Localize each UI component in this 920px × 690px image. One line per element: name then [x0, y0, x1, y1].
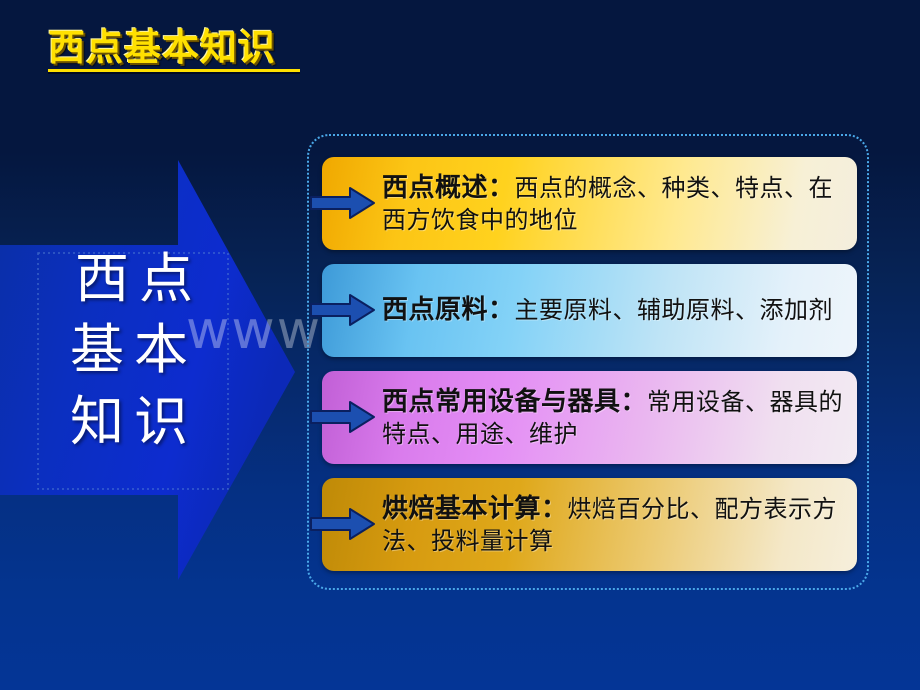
- slide-canvas: 西点基本知识 西点 基本 知识 www.zixin.com.cn 西点概述：西点…: [0, 0, 920, 690]
- page-title: 西点基本知识: [48, 28, 300, 67]
- topic-1-text: 西点概述：西点的概念、种类、特点、在西方饮食中的地位: [382, 172, 847, 235]
- topic-box-1[interactable]: 西点概述：西点的概念、种类、特点、在西方饮食中的地位: [322, 157, 857, 250]
- topic-1-heading: 西点概述：: [382, 173, 515, 203]
- topic-2-text: 西点原料：主要原料、辅助原料、添加剂: [382, 294, 833, 327]
- topic-4-text: 烘焙基本计算：烘焙百分比、配方表示方法、投料量计算: [382, 493, 847, 556]
- topic-2-detail: 主要原料、辅助原料、添加剂: [515, 296, 834, 324]
- slide-title-block: 西点基本知识: [48, 28, 300, 72]
- topic-box-4[interactable]: 烘焙基本计算：烘焙百分比、配方表示方法、投料量计算: [322, 478, 857, 571]
- title-underline: [48, 69, 300, 72]
- big-arrow-label: 西点 基本 知识: [34, 243, 234, 457]
- topic-3-text: 西点常用设备与器具：常用设备、器具的特点、用途、维护: [382, 386, 847, 449]
- topic-3-heading: 西点常用设备与器具：: [382, 387, 647, 417]
- topic-2-heading: 西点原料：: [382, 295, 515, 325]
- topic-box-3[interactable]: 西点常用设备与器具：常用设备、器具的特点、用途、维护: [322, 371, 857, 464]
- topic-4-heading: 烘焙基本计算：: [382, 494, 568, 524]
- topic-box-2[interactable]: 西点原料：主要原料、辅助原料、添加剂: [322, 264, 857, 357]
